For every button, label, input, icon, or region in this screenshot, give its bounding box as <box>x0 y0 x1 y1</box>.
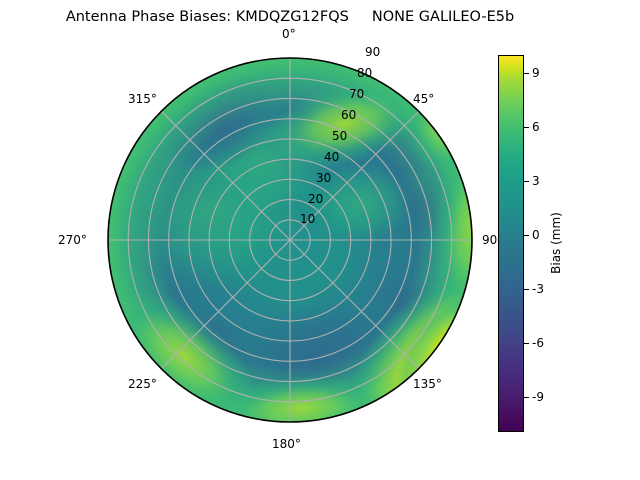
colorbar-ticklabel-neg9: -9 <box>532 391 544 403</box>
figure-canvas: Antenna Phase Biases: KMDQZG12FQS NONE G… <box>0 0 640 480</box>
angular-tick-45: 45° <box>413 93 434 105</box>
radial-tick-30: 30 <box>316 172 331 184</box>
angular-tick-270: 270° <box>58 234 87 246</box>
colorbar-ticklabel-0: 0 <box>532 229 540 241</box>
colorbar-tick-neg6 <box>524 343 529 344</box>
radial-tick-90: 90 <box>365 46 380 58</box>
radial-tick-60: 60 <box>341 109 356 121</box>
angular-tick-90: 90 <box>482 234 497 246</box>
radial-tick-50: 50 <box>332 130 347 142</box>
contour-field <box>91 53 522 472</box>
colorbar-ticklabel-neg3: -3 <box>532 283 544 295</box>
colorbar-gradient <box>498 55 524 432</box>
radial-tick-40: 40 <box>324 151 339 163</box>
colorbar-tick-neg9 <box>524 397 529 398</box>
radial-tick-20: 20 <box>308 193 323 205</box>
colorbar-ticklabel-neg6: -6 <box>532 337 544 349</box>
radial-tick-10: 10 <box>300 213 315 225</box>
colorbar-tick-3 <box>524 181 529 182</box>
radial-tick-80: 80 <box>357 67 372 79</box>
colorbar-ticklabel-6: 6 <box>532 121 540 133</box>
radial-tick-70: 70 <box>349 88 364 100</box>
angular-tick-0: 0° <box>282 28 296 40</box>
colorbar-tick-neg3 <box>524 289 529 290</box>
angular-tick-225: 225° <box>128 378 157 390</box>
angular-tick-180: 180° <box>272 438 301 450</box>
polar-plot-svg[interactable] <box>58 8 522 472</box>
colorbar-tick-6 <box>524 127 529 128</box>
polar-axes[interactable]: 0° 45° 90 135° 180° 225° 270° 315° 10 20… <box>58 8 522 472</box>
colorbar-tick-0 <box>524 235 529 236</box>
colorbar-ticklabel-3: 3 <box>532 175 540 187</box>
colorbar-ticklabel-9: 9 <box>532 67 540 79</box>
colorbar[interactable]: 9 6 3 0 -3 -6 -9 <box>498 55 524 432</box>
angular-tick-315: 315° <box>128 93 157 105</box>
colorbar-tick-9 <box>524 73 529 74</box>
colorbar-axis-label: Bias (mm) <box>550 212 562 274</box>
angular-tick-135: 135° <box>413 378 442 390</box>
polar-grid <box>108 58 472 422</box>
